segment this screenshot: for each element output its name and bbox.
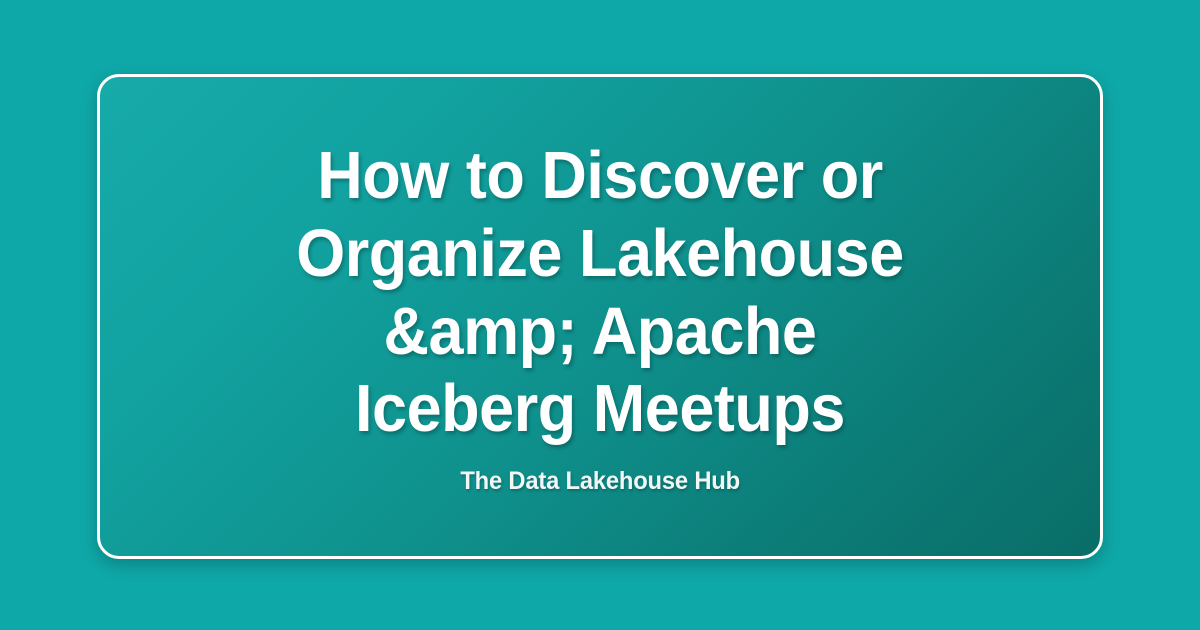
social-share-card: How to Discover or Organize Lakehouse &a… xyxy=(0,0,1200,630)
site-name-subtitle: The Data Lakehouse Hub xyxy=(460,466,740,496)
card-inner-content: How to Discover or Organize Lakehouse &a… xyxy=(100,137,1100,496)
content-card: How to Discover or Organize Lakehouse &a… xyxy=(97,74,1103,559)
page-title: How to Discover or Organize Lakehouse &a… xyxy=(243,137,957,448)
